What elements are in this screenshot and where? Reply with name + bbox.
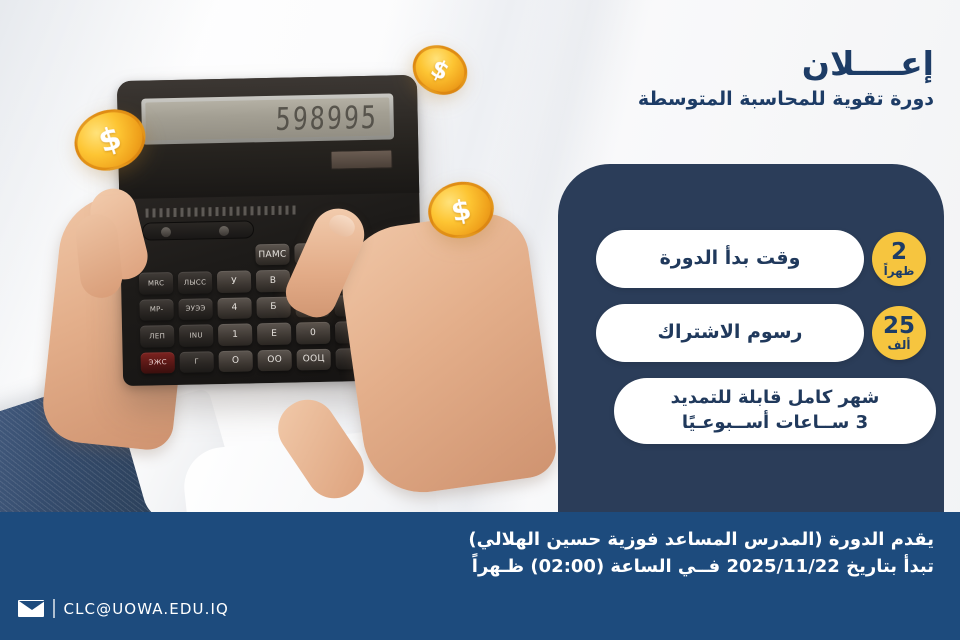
fingernail (326, 211, 358, 240)
calculator-top-panel: 598995 (117, 75, 419, 199)
hero-photo: 598995 ПАМС М- М+ MU МRC ЛЫСС У (0, 0, 560, 520)
badge-number: 2 (891, 241, 907, 264)
badge-number: 25 (883, 315, 915, 338)
calculator-key: 0 (296, 322, 330, 344)
info-row-fees: 25 ألف رسوم الاشتراك (558, 304, 944, 362)
contact-email-row[interactable]: CLC@UOWA.EDU.IQ (18, 599, 229, 618)
calculator-key: Б (256, 296, 290, 318)
instructor-line: يقدم الدورة (المدرس المساعد فوزية حسين ا… (468, 526, 934, 553)
calculator-key: ООЦ (296, 348, 330, 370)
calculator-key: 1 (218, 324, 252, 346)
duration-line-2: 3 ســاعات أســبوعـيًا (682, 411, 868, 435)
calculator-key: Е (257, 323, 291, 345)
info-row-start-time: 2 ظهراً وقت بدأ الدورة (558, 230, 944, 288)
badge-unit: ألف (888, 339, 911, 351)
calculator-display-value: 598995 (275, 99, 379, 137)
info-pill-label: وقت بدأ الدورة (596, 230, 864, 288)
calculator-key: ЛЫСС (178, 272, 212, 294)
calculator-key: ОО (257, 349, 291, 371)
info-pill-label: رسوم الاشتراك (596, 304, 864, 362)
calculator-key: ЛЕП (140, 325, 174, 347)
header-block: إعــــلان دورة تقوية للمحاسبة المتوسطة (638, 46, 934, 112)
calculator-lcd: 598995 (145, 97, 390, 140)
footer-bar: يقدم الدورة (المدرس المساعد فوزية حسين ا… (0, 512, 960, 640)
status-badge: 2 ظهراً (872, 232, 926, 286)
calculator-key: ПАМС (255, 244, 289, 266)
calculator-key: ЭЖС (141, 352, 175, 374)
slider-knob-a (161, 227, 171, 237)
slider-knob-b (219, 226, 229, 236)
calculator-key: Г (180, 351, 214, 373)
envelope-icon (18, 600, 44, 617)
start-date-line: تبدأ بتاريخ 2025/11/22 فــي الساعة (02:0… (468, 553, 934, 582)
poster-root: 598995 ПАМС М- М+ MU МRC ЛЫСС У (0, 0, 960, 640)
info-row-duration: شهر كامل قابلة للتمديد 3 ســاعات أســبوع… (558, 378, 944, 444)
calculator-key: 4 (217, 297, 251, 319)
info-row-list: 2 ظهراً وقت بدأ الدورة 25 ألف رسوم الاشت… (558, 230, 944, 460)
email-address[interactable]: CLC@UOWA.EDU.IQ (64, 600, 229, 618)
calculator-key: МР- (139, 299, 173, 321)
calculator-key: INU (179, 324, 213, 346)
calculator-slider-switch (142, 220, 254, 240)
calculator-key: О (219, 350, 253, 372)
calculator-key: У (217, 271, 251, 293)
page-title: إعــــلان (638, 46, 934, 82)
calculator-solar-panel (330, 149, 392, 169)
footer-text-block: يقدم الدورة (المدرس المساعد فوزية حسين ا… (468, 526, 934, 582)
badge-unit: ظهراً (884, 265, 915, 277)
status-badge: 25 ألف (872, 306, 926, 360)
duration-line-1: شهر كامل قابلة للتمديد (671, 386, 880, 410)
calculator-label-text (146, 205, 296, 217)
divider (53, 599, 55, 618)
right-hand (334, 208, 559, 500)
info-pill-duration: شهر كامل قابلة للتمديد 3 ســاعات أســبوع… (614, 378, 936, 444)
page-subtitle: دورة تقوية للمحاسبة المتوسطة (638, 87, 934, 112)
calculator-lcd-frame: 598995 (141, 93, 394, 144)
calculator-key: ЭУЭЭ (178, 298, 212, 320)
calculator-key: МRC (139, 272, 173, 294)
